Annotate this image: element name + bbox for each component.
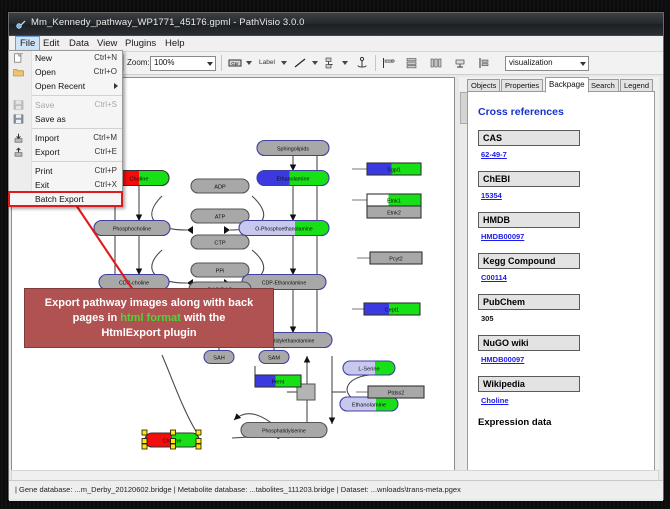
pathway-node-label: Phosphocholine (113, 227, 151, 233)
xref-source-label: Wikipedia (478, 376, 580, 392)
xref-source-label: CAS (478, 130, 580, 146)
group-button[interactable] (453, 56, 467, 70)
selection-handle[interactable] (142, 430, 147, 435)
selection-handle[interactable] (171, 439, 176, 444)
visualization-combo[interactable]: visualization (505, 56, 589, 71)
menu-item-print[interactable]: Print Ctrl+P (9, 164, 122, 178)
menu-view[interactable]: View (93, 37, 121, 50)
selection-handle[interactable] (196, 439, 201, 444)
pathway-node-label: CTP (214, 241, 225, 247)
expression-data-heading: Expression data (478, 417, 654, 428)
status-bar: | Gene database: ...m_Derby_20120602.bri… (9, 480, 663, 499)
xref-cas: CAS 62-49-7 (478, 128, 654, 159)
pathway-metabolite-node[interactable]: Phosphatidylserine (241, 423, 327, 438)
pathway-gene-node[interactable]: Sgpl1 (367, 163, 421, 175)
xref-source-label: NuGO wiki (478, 335, 580, 351)
xref-chebi: ChEBI 15354 (478, 169, 654, 200)
pathway-node-label: Ptdss2 (388, 390, 404, 396)
menu-item-label: New (35, 51, 52, 65)
annotation-highlight: html format (120, 312, 181, 324)
menu-data[interactable]: Data (65, 37, 93, 50)
distribute-button[interactable] (429, 56, 443, 70)
xref-source-label: ChEBI (478, 171, 580, 187)
pathway-node-label: Sgpl1 (387, 167, 401, 173)
title-bar: Mm_Kennedy_pathway_WP1771_45176.gpml - P… (9, 13, 663, 36)
pathway-metabolite-node[interactable]: Ethanolamine (340, 397, 398, 411)
menu-item-open[interactable]: Open Ctrl+O (9, 65, 122, 79)
pathway-node-label: L-Serine (358, 367, 379, 373)
xref-source-label: HMDB (478, 212, 580, 228)
pathway-node-label: O-Phosphoethanolamine (255, 227, 313, 233)
menu-item-open-recent[interactable]: Open Recent (9, 79, 122, 93)
pathway-node-label: Pcyt2 (389, 256, 402, 262)
menu-item-export[interactable]: Export Ctrl+E (9, 145, 122, 159)
selection-handle[interactable] (142, 439, 147, 444)
chevron-down-icon (580, 62, 586, 66)
pathway-metabolite-node[interactable]: ATP (191, 209, 249, 223)
pathway-node-label: Choline (130, 177, 149, 183)
zoom-combo[interactable]: 100% (150, 56, 216, 71)
annotation-line3: HtmlExport plugin (101, 327, 196, 339)
menu-plugins[interactable]: Plugins (121, 37, 160, 50)
xref-hmdb: HMDB HMDB00097 (478, 210, 654, 241)
backpage-content: Cross references CAS 62-49-7 ChEBI 15354… (467, 91, 655, 483)
menu-item-accelerator: Ctrl+E (95, 145, 117, 159)
xref-pubchem: PubChem 305 (478, 292, 654, 323)
menu-edit[interactable]: Edit (39, 37, 63, 50)
menu-item-accelerator: Ctrl+M (93, 131, 117, 145)
pathway-node-label: Cept1 (385, 307, 399, 313)
line-dropdown-icon[interactable] (312, 61, 318, 65)
interaction-dropdown-icon[interactable] (342, 61, 348, 65)
pathway-node-label: Sphingolipids (277, 147, 309, 153)
order-button[interactable] (477, 56, 491, 70)
menu-item-import[interactable]: Import Ctrl+M (9, 131, 122, 145)
pathway-gene-node[interactable]: Ptdss2 (368, 386, 424, 398)
visualization-value: visualization (509, 58, 553, 67)
geneproduct-button[interactable]: Gpr (228, 56, 242, 70)
pathway-metabolite-node[interactable]: SAM (259, 351, 289, 364)
side-panel: Objects Properties Backpage Search Legen… (459, 77, 659, 484)
chevron-down-icon (207, 62, 213, 66)
pathway-metabolite-node[interactable]: L-Serine (343, 361, 395, 375)
menu-item-exit[interactable]: Exit Ctrl+X (9, 178, 122, 192)
menu-item-accelerator: Ctrl+P (95, 164, 117, 178)
label-dropdown-icon[interactable] (281, 61, 287, 65)
zoom-value: 100% (154, 58, 174, 67)
pathway-node-label: SAH (213, 356, 225, 362)
zoom-label: Zoom: (127, 58, 150, 67)
pathway-node-label: CDP-Ethanolamine (262, 281, 307, 287)
menu-item-save: Save Ctrl+S (9, 98, 122, 112)
selection-handle[interactable] (196, 444, 201, 449)
pathway-metabolite-node[interactable]: ADP (191, 179, 249, 193)
window-title: Mm_Kennedy_pathway_WP1771_45176.gpml - P… (31, 17, 305, 28)
selection-handle[interactable] (171, 430, 176, 435)
label-button-text[interactable]: Label (259, 59, 275, 66)
xref-value-link[interactable]: HMDB00097 (481, 355, 654, 364)
pathway-metabolite-node[interactable]: O-Phosphoethanolamine (239, 221, 329, 236)
menu-item-label: Export (35, 145, 60, 159)
menu-item-label: Open Recent (35, 79, 85, 93)
save-as-icon (13, 114, 24, 124)
xref-value-link[interactable]: 62-49-7 (481, 150, 654, 159)
xref-value-link[interactable]: 15354 (481, 191, 654, 200)
menu-item-label: Print (35, 164, 52, 178)
status-text: | Gene database: ...m_Derby_20120602.bri… (15, 485, 461, 494)
pathway-node-label: Etnk2 (387, 210, 401, 216)
menu-item-label: Exit (35, 178, 49, 192)
pathway-node-label: CDP-choline (119, 281, 149, 287)
toolbar-separator (123, 55, 124, 71)
xref-wikipedia: Wikipedia Choline (478, 374, 654, 405)
pathway-node-label: Ethanolamine (277, 177, 310, 183)
menu-item-batch-export[interactable]: Batch Export (9, 192, 122, 206)
pathway-gene-node[interactable]: Pemt (255, 375, 301, 387)
import-icon (13, 133, 24, 143)
menu-item-save-as[interactable]: Save as (9, 112, 122, 126)
geneproduct-dropdown-icon[interactable] (246, 61, 252, 65)
xref-nugo-wiki: NuGO wiki HMDB00097 (478, 333, 654, 364)
menu-item-accelerator: Ctrl+X (95, 178, 117, 192)
selection-handle[interactable] (171, 444, 176, 449)
pathvisio-icon (15, 18, 27, 30)
toolbar-separator (375, 55, 376, 71)
pathway-metabolite-node[interactable]: Ethanolamine (257, 171, 329, 186)
menu-item-accelerator: Ctrl+N (94, 51, 117, 65)
annotation-line2-prefix: pages in (73, 312, 121, 324)
pathway-metabolite-node[interactable]: CTP (191, 235, 249, 249)
toolbar-separator (221, 55, 222, 71)
pathway-metabolite-node[interactable]: Phosphocholine (94, 221, 170, 236)
annotation-line1: Export pathway images along with back (45, 297, 253, 309)
tab-backpage[interactable]: Backpage (545, 77, 589, 93)
export-icon (13, 147, 24, 157)
menu-item-label: Open (35, 65, 56, 79)
menu-item-accelerator: Ctrl+O (94, 65, 117, 79)
xref-value-link[interactable]: C00114 (481, 273, 654, 282)
align-left-button[interactable] (381, 56, 395, 70)
annotation-text: Export pathway images along with back pa… (45, 296, 253, 341)
pathway-metabolite-node[interactable]: SAH (204, 351, 234, 364)
line-button[interactable] (293, 56, 307, 70)
folder-open-icon (13, 67, 24, 77)
menu-item-new[interactable]: New Ctrl+N (9, 51, 122, 65)
save-icon (13, 100, 24, 110)
pathway-node-label: ADP (214, 185, 226, 191)
xref-kegg-compound: Kegg Compound C00114 (478, 251, 654, 282)
annotation-line2-suffix: with the (181, 312, 226, 324)
selection-handle[interactable] (142, 444, 147, 449)
menu-help[interactable]: Help (161, 37, 189, 50)
xref-value: 305 (481, 314, 654, 323)
submenu-arrow-icon (114, 83, 118, 89)
xref-source-label: PubChem (478, 294, 580, 310)
interaction-button[interactable] (323, 56, 337, 70)
pathway-gene-node[interactable]: Pcyt2 (370, 252, 422, 264)
pathway-node-label: Ethanolamine (352, 403, 386, 409)
pathway-metabolite-node[interactable]: PPi (191, 263, 249, 277)
desktop-background: Mm_Kennedy_pathway_WP1771_45176.gpml - P… (0, 0, 670, 509)
xref-value-link[interactable]: HMDB00097 (481, 232, 654, 241)
menu-item-label: Batch Export (35, 192, 84, 206)
pathway-node-label: ATP (215, 215, 226, 221)
panel-tab-row: Objects Properties Backpage Search Legen… (459, 77, 659, 91)
menu-item-label: Save as (35, 112, 66, 126)
svg-text:Gpr: Gpr (231, 61, 239, 66)
new-file-icon (13, 53, 24, 63)
selection-handle[interactable] (196, 430, 201, 435)
menu-item-label: Save (35, 98, 54, 112)
menu-item-accelerator: Ctrl+S (95, 98, 117, 112)
pathway-gene-node[interactable]: Etnk1 (367, 194, 421, 206)
cross-references-heading: Cross references (478, 106, 654, 118)
pathway-gene-node[interactable]: Cept1 (364, 303, 420, 315)
pathway-metabolite-node[interactable]: Sphingolipids (257, 141, 329, 156)
xref-source-label: Kegg Compound (478, 253, 580, 269)
pathway-gene-node[interactable]: Etnk2 (367, 206, 421, 218)
pathway-node-label: Phosphatidylserine (262, 429, 306, 435)
pathway-node-label: SAM (268, 356, 280, 362)
pathway-node-label: PPi (216, 269, 225, 275)
align-stack-button[interactable] (405, 56, 419, 70)
xref-value-link[interactable]: Choline (481, 396, 654, 405)
menu-item-label: Import (35, 131, 59, 145)
pathway-node-label: Pemt (272, 379, 285, 385)
anchor-button[interactable] (355, 56, 369, 70)
file-menu-dropdown[interactable]: New Ctrl+N Open Ctrl+O Open Recent Save … (8, 50, 123, 207)
pathway-node-label: Etnk1 (387, 198, 401, 204)
annotation-callout: Export pathway images along with back pa… (24, 288, 274, 348)
